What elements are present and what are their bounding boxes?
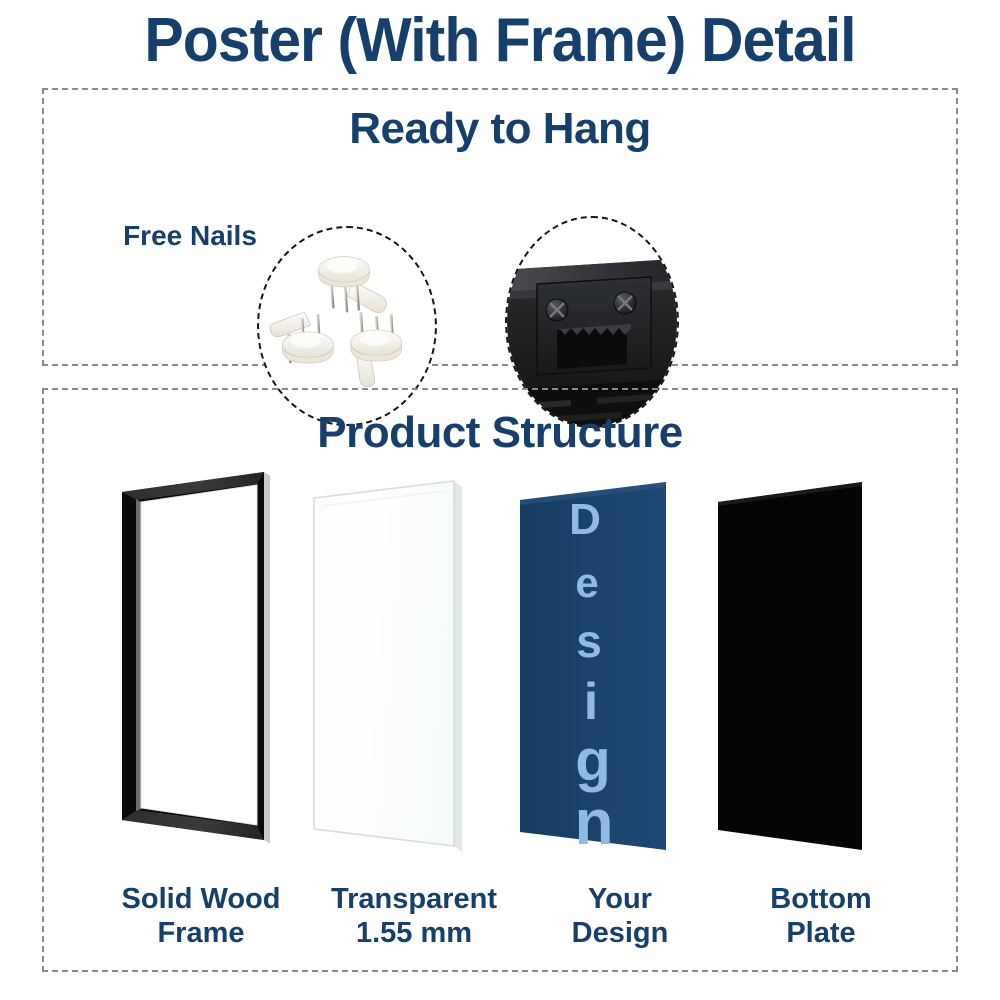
- ready-to-hang-panel: Ready to Hang Free Nails: [42, 88, 958, 366]
- ready-to-hang-row: Free Nails: [44, 158, 956, 368]
- bottom-plate-graphic: [712, 470, 892, 870]
- structure-captions-row: Solid Wood Frame Transparent 1.55 mm You…: [44, 882, 956, 972]
- caption-transparent-sheet: Transparent 1.55 mm: [294, 882, 534, 950]
- poster-detail-infographic: Poster (With Frame) Detail Ready to Hang…: [0, 0, 1000, 1000]
- caption-solid-wood-frame: Solid Wood Frame: [86, 882, 316, 950]
- transparent-sheet-graphic: [306, 466, 486, 866]
- product-structure-panel: Product Structure: [42, 388, 958, 972]
- structure-layer-row: D e s i g n: [44, 452, 956, 892]
- caption-bottom-plate: Bottom Plate: [716, 882, 926, 950]
- product-structure-heading: Product Structure: [44, 408, 956, 458]
- solid-wood-frame-graphic: [112, 452, 292, 852]
- page-title: Poster (With Frame) Detail: [25, 8, 975, 73]
- caption-your-design: Your Design: [522, 882, 718, 950]
- ready-to-hang-heading: Ready to Hang: [44, 104, 956, 154]
- your-design-graphic: D e s i g n: [514, 470, 694, 870]
